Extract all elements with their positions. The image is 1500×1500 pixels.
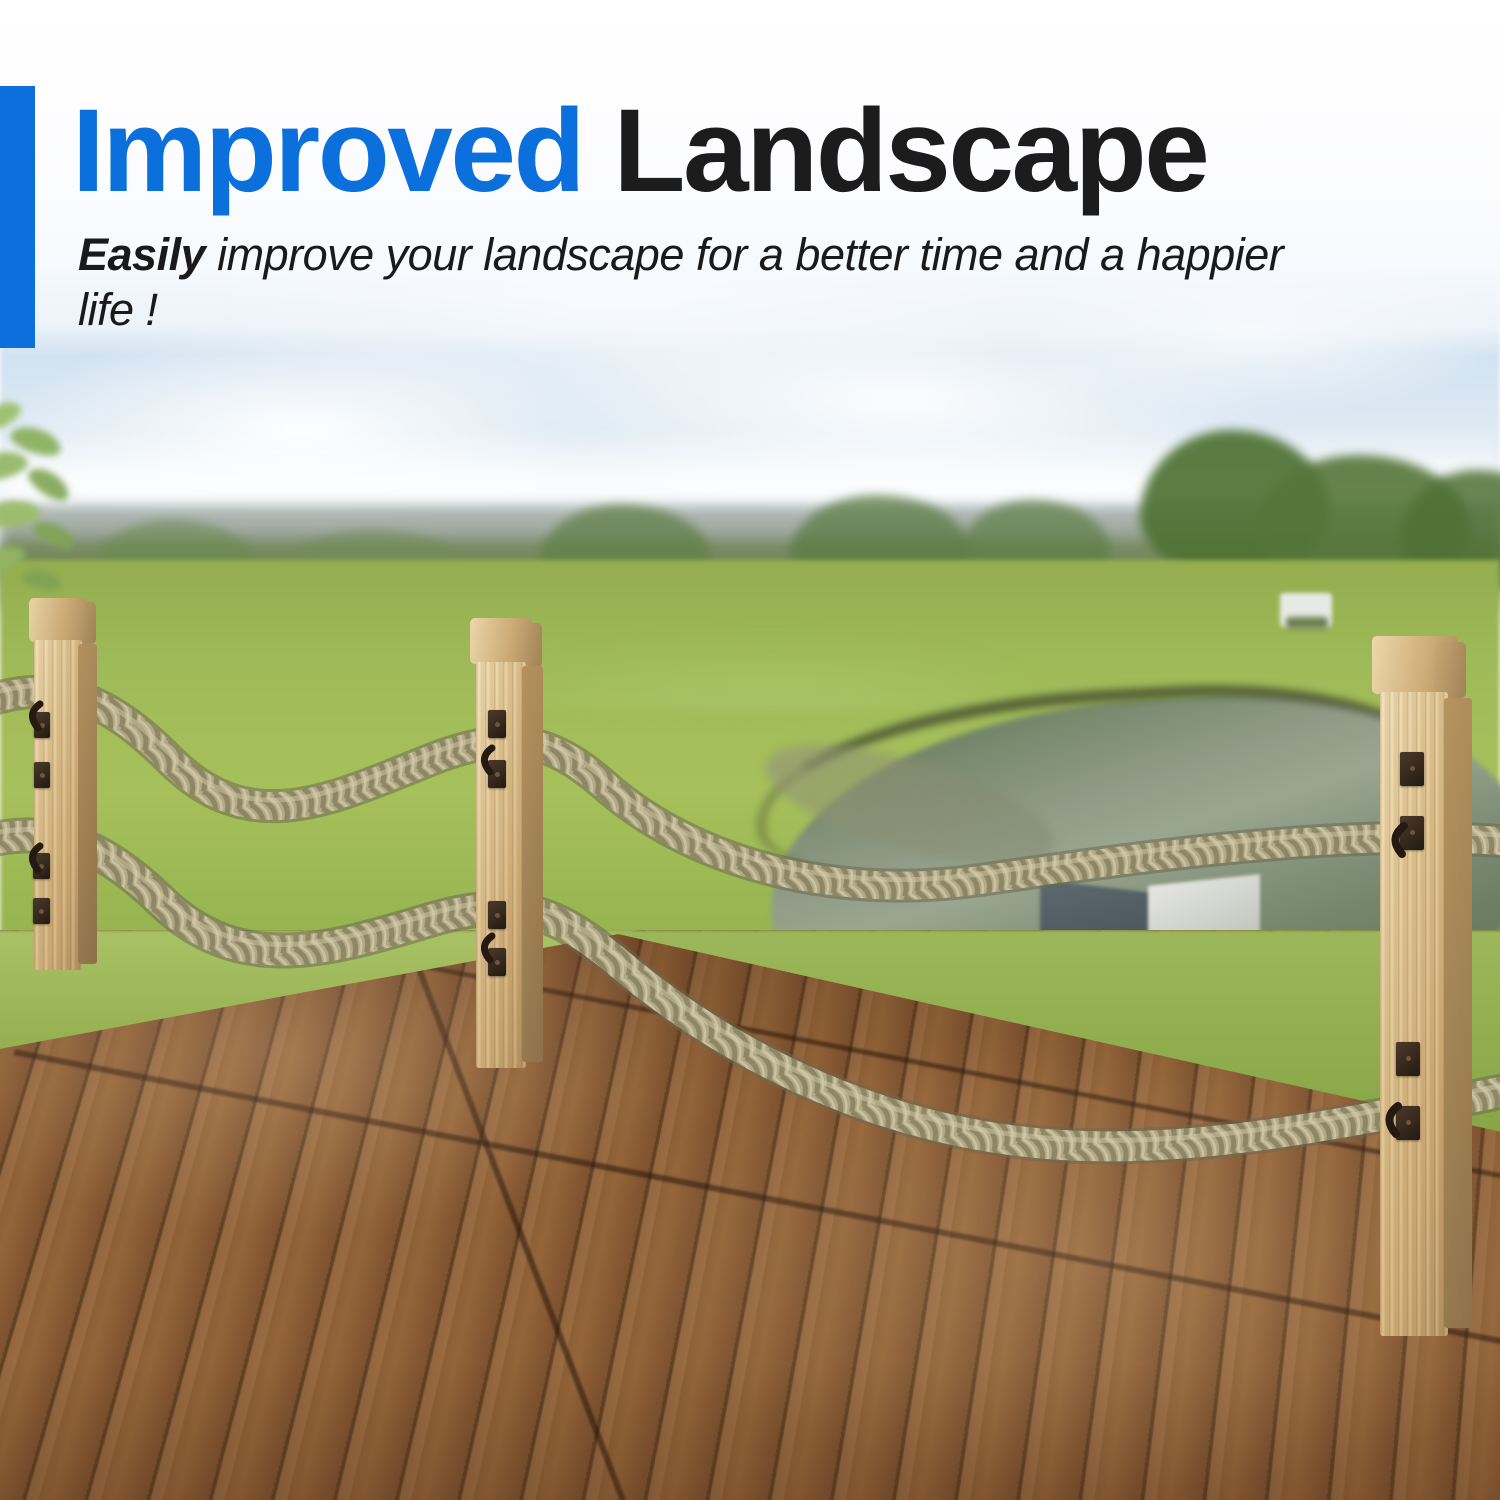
rope-bracket (1396, 1042, 1420, 1076)
header: Improved Landscape Easily improve your l… (0, 0, 1500, 356)
rope-bracket (1400, 816, 1424, 850)
rope-bracket (33, 853, 50, 879)
fence-post-right (1372, 636, 1492, 1336)
poster-root: Improved Landscape Easily improve your l… (0, 0, 1500, 1500)
post-cap-side (72, 602, 96, 644)
post-cap-side (517, 623, 542, 667)
golf-cart-shadow (1286, 617, 1328, 629)
rope-bracket (34, 712, 50, 738)
post-shaft-side (1444, 698, 1472, 1328)
post-shaft-side (522, 666, 543, 1062)
rope-bracket (33, 898, 50, 924)
post-shaft-side (78, 644, 97, 964)
accent-bar (0, 86, 35, 348)
foreground-branch (0, 395, 160, 605)
fence-post-left (28, 598, 106, 970)
fence-post-center (470, 618, 560, 1068)
rope-bracket (488, 948, 506, 976)
rope-bracket (488, 901, 506, 929)
title-rest: Landscape (583, 85, 1207, 217)
post-shaft (1380, 692, 1448, 1336)
page-subtitle: Easily improve your landscape for a bett… (78, 227, 1328, 337)
rope-bracket (488, 710, 506, 738)
title-highlight: Improved (72, 85, 583, 217)
subtitle-rest: improve your landscape for a better time… (78, 229, 1283, 335)
rope-bracket (1400, 752, 1424, 786)
wood-grain (1380, 692, 1448, 1336)
post-cap-side (1434, 642, 1466, 698)
subtitle-lead: Easily (78, 229, 205, 280)
rope-bracket (34, 762, 50, 788)
page-title: Improved Landscape (72, 92, 1452, 210)
rope-bracket (488, 760, 506, 788)
rope-bracket (1396, 1106, 1420, 1140)
